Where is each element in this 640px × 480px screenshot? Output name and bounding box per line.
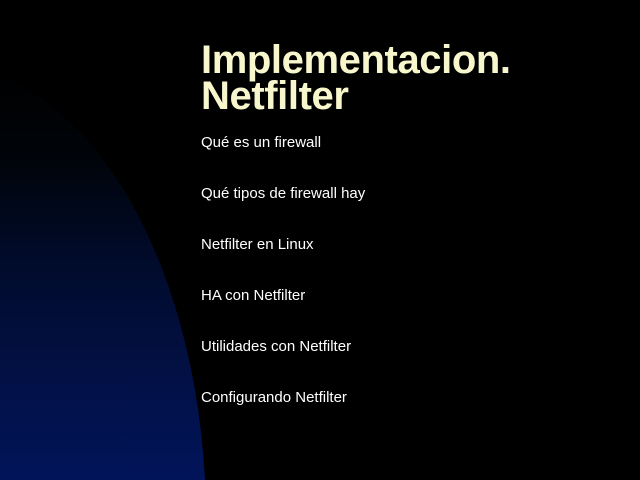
- bullet-item-label: HA con Netfilter: [201, 287, 621, 305]
- bullet-item-label: Netfilter en Linux: [201, 236, 621, 254]
- slide-title-line-1: Implementacion.: [201, 42, 621, 78]
- slide-title: Implementacion. Netfilter: [201, 42, 621, 114]
- bullet-item-label: Utilidades con Netfilter: [201, 338, 621, 356]
- list-item: HA con Netfilter: [201, 287, 621, 338]
- list-item: Configurando Netfilter: [201, 389, 621, 440]
- slide-title-line-2: Netfilter: [201, 78, 621, 114]
- slide-bullet-list: Qué es un firewall Qué tipos de firewall…: [201, 134, 621, 440]
- list-item: Qué es un firewall: [201, 134, 621, 185]
- bullet-item-label: Qué es un firewall: [201, 134, 621, 152]
- list-item: Utilidades con Netfilter: [201, 338, 621, 389]
- bullet-item-label: Configurando Netfilter: [201, 389, 621, 407]
- bullet-item-label: Qué tipos de firewall hay: [201, 185, 621, 203]
- list-item: Qué tipos de firewall hay: [201, 185, 621, 236]
- presentation-slide: Implementacion. Netfilter Qué es un fire…: [0, 0, 640, 480]
- list-item: Netfilter en Linux: [201, 236, 621, 287]
